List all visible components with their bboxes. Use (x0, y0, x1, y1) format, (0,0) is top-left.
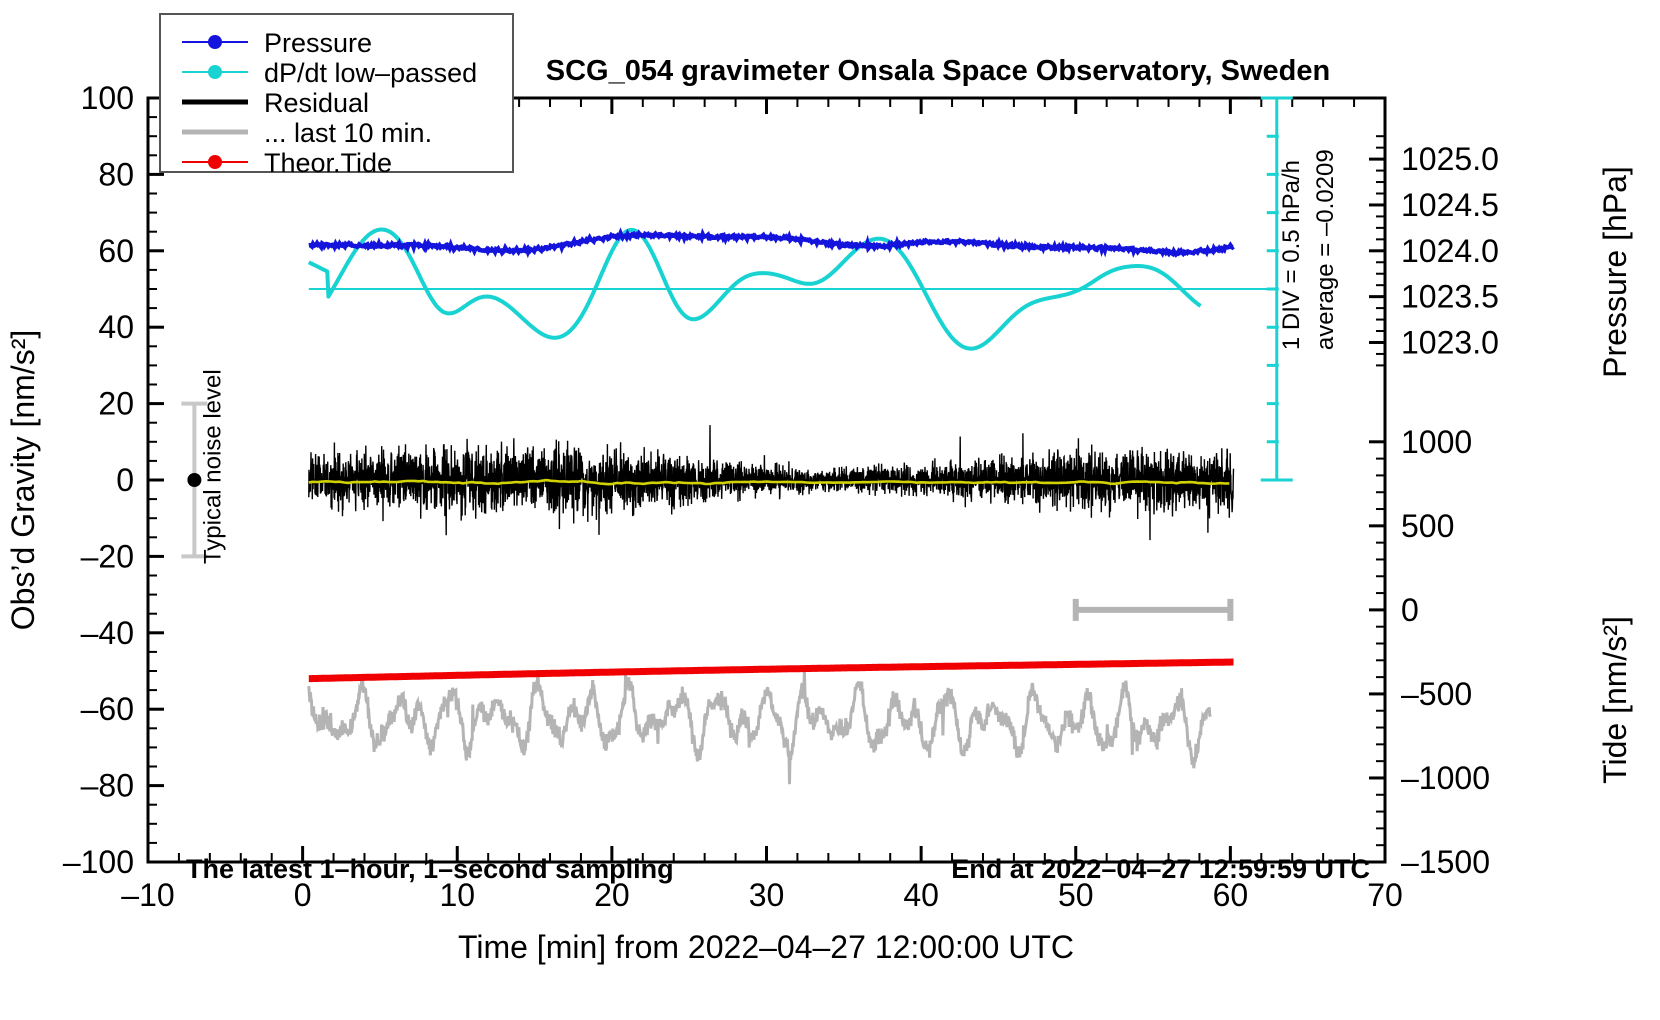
y-tick-label: 20 (98, 386, 134, 422)
y-tick-label: –20 (81, 538, 134, 574)
y-tick-label: 60 (98, 233, 134, 269)
y-tick-label: 0 (116, 462, 134, 498)
x-axis-label: Time [min] from 2022–04–27 12:00:00 UTC (458, 929, 1074, 965)
tide-tick-label: –1000 (1401, 760, 1490, 796)
pressure-tick-label: 1023.0 (1401, 324, 1499, 360)
y-tick-label: –40 (81, 615, 134, 651)
pressure-tick-label: 1024.5 (1401, 187, 1499, 223)
pressure-tick-label: 1024.0 (1401, 233, 1499, 269)
pressure-tick-label: 1025.0 (1401, 141, 1499, 177)
y-tick-label: –60 (81, 691, 134, 727)
y-tick-label: 80 (98, 156, 134, 192)
legend-label: dP/dt low–passed (264, 58, 477, 88)
legend[interactable]: PressuredP/dt low–passedResidual... last… (160, 14, 513, 178)
tide-axis-label: Tide [nm/s²] (1597, 616, 1633, 784)
tide-tick-label: –1500 (1401, 844, 1490, 880)
annotation-bottom-right: End at 2022–04–27 12:59:59 UTC (951, 854, 1370, 884)
annotation-bottom-left: The latest 1–hour, 1–second sampling (186, 854, 674, 884)
x-tick-label: –10 (121, 877, 174, 913)
x-tick-label: 40 (903, 877, 939, 913)
chart-title: SCG_054 gravimeter Onsala Space Observat… (546, 55, 1330, 87)
x-tick-label: 30 (749, 877, 785, 913)
tide-tick-label: 0 (1401, 592, 1419, 628)
noise-label: Typical noise level (199, 369, 226, 564)
dpdt-div-label: 1 DIV = 0.5 hPa/h (1278, 160, 1305, 350)
legend-label: Pressure (264, 28, 372, 58)
legend-label: Residual (264, 88, 369, 118)
gravimeter-plot: SCG_054 gravimeter Onsala Space Observat… (0, 0, 1660, 1020)
y-tick-label: 100 (81, 80, 134, 116)
y-tick-label: 40 (98, 309, 134, 345)
dpdt-average-label: average = –0.0209 (1312, 149, 1339, 350)
legend-label: ... last 10 min. (264, 118, 432, 148)
pressure-tick-label: 1023.5 (1401, 279, 1499, 315)
chart-canvas: SCG_054 gravimeter Onsala Space Observat… (0, 0, 1660, 1020)
y-tick-label: –80 (81, 768, 134, 804)
tide-tick-label: 500 (1401, 508, 1454, 544)
x-tick-label: 70 (1367, 877, 1403, 913)
y-axis-label: Obs’d Gravity [nm/s²] (5, 330, 41, 631)
tide-tick-label: 1000 (1401, 424, 1472, 460)
pressure-axis-label: Pressure [hPa] (1597, 166, 1633, 378)
legend-label: Theor.Tide (264, 148, 392, 178)
tide-tick-label: –500 (1401, 676, 1472, 712)
y-tick-label: –100 (63, 844, 134, 880)
